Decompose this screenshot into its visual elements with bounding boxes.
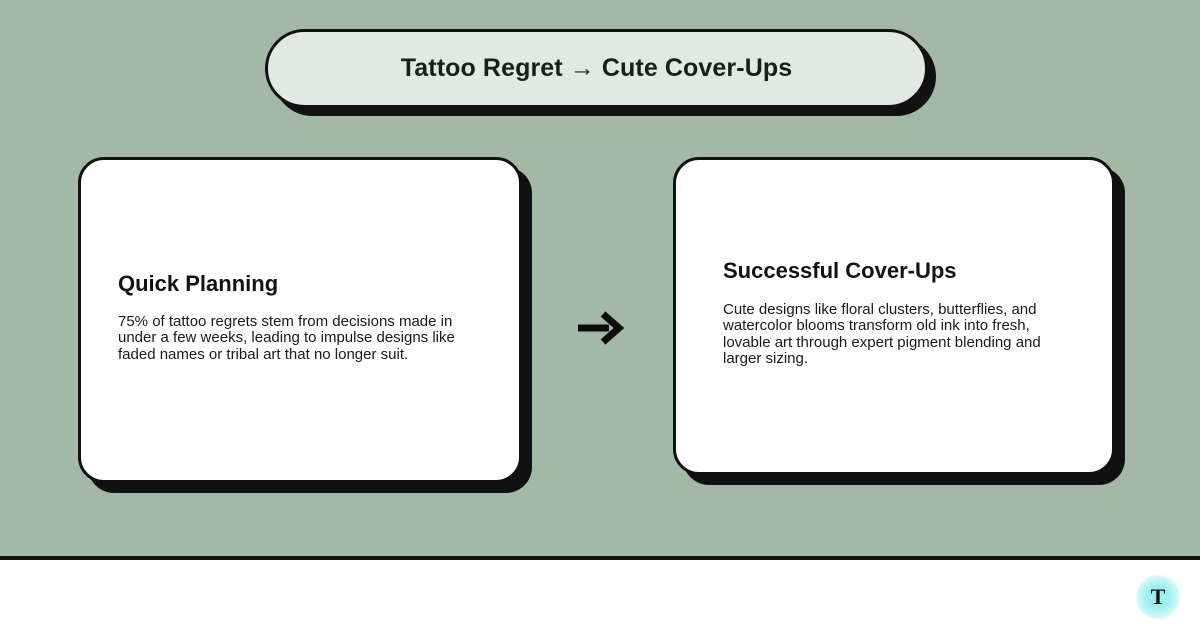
page-title: Tattoo Regret → Cute Cover-Ups xyxy=(383,55,810,83)
step-card-body: 75% of tattoo regrets stem from decision… xyxy=(118,314,489,364)
slide-canvas: Tattoo Regret → Cute Cover-Ups Quick Pla… xyxy=(0,0,1200,630)
brand-logo-glyph: T xyxy=(1151,586,1166,608)
step-card-body: Cute designs like floral clusters, butte… xyxy=(723,302,1078,368)
slide-title-pill: Tattoo Regret → Cute Cover-Ups xyxy=(265,29,928,108)
step-card-content: Quick Planning 75% of tattoo regrets ste… xyxy=(101,271,499,364)
step-card-successful-cover-ups: Successful Cover-Ups Cute designs like f… xyxy=(673,157,1115,475)
footer-bar: T xyxy=(0,564,1200,630)
step-card-quick-planning: Quick Planning 75% of tattoo regrets ste… xyxy=(78,157,522,483)
step-card-heading: Successful Cover-Ups xyxy=(723,258,1078,284)
step-card-heading: Quick Planning xyxy=(118,271,489,297)
arrow-right-icon xyxy=(560,298,640,358)
step-card-content: Successful Cover-Ups Cute designs like f… xyxy=(696,258,1092,367)
slide-stage: Tattoo Regret → Cute Cover-Ups Quick Pla… xyxy=(0,0,1200,560)
brand-t-icon: T xyxy=(1136,575,1180,619)
